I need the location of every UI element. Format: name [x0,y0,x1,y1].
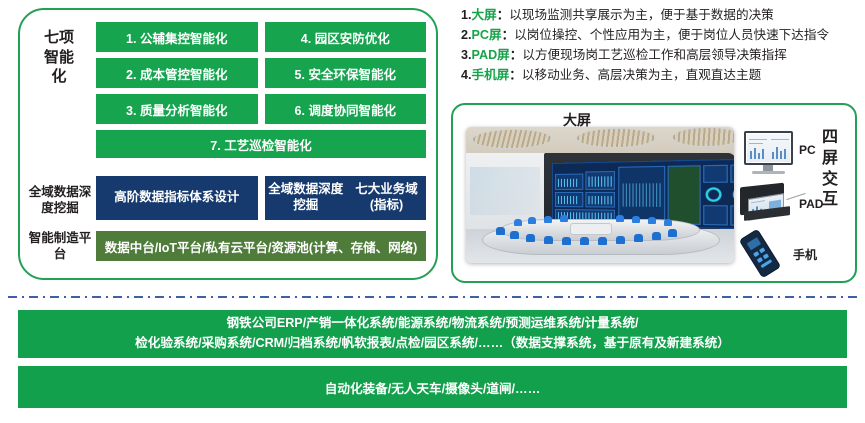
legend-key: 手机屏 [472,68,510,82]
navy-item-line2: 七大业务域(指标) [347,182,426,213]
legend-item-2: 2.PC屏：以岗位操控、个性应用为主，便于岗位人员快速下达指令 [461,26,861,46]
grid-item-6[interactable]: 6. 调度协同智能化 [265,94,427,124]
screen-legend-list: 1.大屏：以现场监测共享展示为主，便于基于数据的决策 2.PC屏：以岗位操控、个… [461,6,861,86]
grid-item-7[interactable]: 7. 工艺巡检智能化 [96,130,426,158]
navy-item-business-domains[interactable]: 全域数据深度挖掘 七大业务域(指标) [265,176,427,220]
legend-text: 以移动业务、高层决策为主，直观直达主题 [522,68,761,82]
phone-label: 手机 [793,246,817,263]
legend-key: 大屏 [472,8,497,22]
grid-row: 2. 成本管控智能化 5. 安全环保智能化 [96,58,426,88]
legend-colon: ： [502,28,515,42]
legend-key: PAD屏 [472,48,510,62]
legend-colon: ： [497,8,510,22]
legend-text: 以岗位操控、个性应用为主，便于岗位人员快速下达指令 [514,28,829,42]
row-label-seven-intelligence: 七项智能化 [42,28,76,87]
legend-number: 1. [461,8,472,22]
legend-colon: ： [509,68,522,82]
pc-label: PC [799,143,816,157]
support-systems-bar[interactable]: 钢铁公司ERP/产销一体化系统/能源系统/物流系统/预测运维系统/计量系统/ 检… [18,310,847,358]
legend-item-1: 1.大屏：以现场监测共享展示为主，便于基于数据的决策 [461,6,861,26]
row-label-data-mining: 全域数据深度挖掘 [26,184,94,216]
section-divider [8,296,857,298]
pc-monitor-base [752,171,785,174]
grid-row: 1. 公辅集控智能化 4. 园区安防优化 [96,22,426,52]
legend-text: 以现场监测共享展示为主，便于基于数据的决策 [509,8,773,22]
legend-colon: ： [510,48,523,62]
legend-number: 4. [461,68,472,82]
grid-item-4[interactable]: 4. 园区安防优化 [265,22,427,52]
support-systems-line2: 检化验系统/采购系统/CRM/归档系统/帆软报表/点检/园区系统/……（数据支撑… [135,334,730,354]
navy-item-indicator-design[interactable]: 高阶数据指标体系设计 [96,176,258,220]
automation-equipment-bar[interactable]: 自动化装备/无人天车/摄像头/道闸/…… [18,366,847,408]
row-label-platform: 智能制造平台 [26,230,94,262]
platform-bar[interactable]: 数据中台/IoT平台/私有云平台/资源池(计算、存储、网络) [96,231,426,261]
support-systems-line1: 钢铁公司ERP/产销一体化系统/能源系统/物流系统/预测运维系统/计量系统/ [226,314,638,334]
grid-item-3[interactable]: 3. 质量分析智能化 [96,94,258,124]
legend-text: 以方便现场岗工艺巡检工作和高层领导决策指挥 [522,48,786,62]
grid-item-5[interactable]: 5. 安全环保智能化 [265,58,427,88]
legend-item-4: 4.手机屏：以移动业务、高层决策为主，直观直达主题 [461,66,861,86]
four-screen-interaction-label: 四屏交互 [819,128,841,211]
legend-number: 3. [461,48,472,62]
grid-item-2[interactable]: 2. 成本管控智能化 [96,58,258,88]
grid-row: 3. 质量分析智能化 6. 调度协同智能化 [96,94,426,124]
slide-root: 七项智能化 全域数据深度挖掘 智能制造平台 1. 公辅集控智能化 4. 园区安防… [0,0,865,423]
legend-number: 2. [461,28,472,42]
pc-monitor-icon [744,131,793,165]
control-room-photo [466,127,734,263]
data-mining-row: 高阶数据指标体系设计 全域数据深度挖掘 七大业务域(指标) [96,176,426,220]
legend-item-3: 3.PAD屏：以方便现场岗工艺巡检工作和高层领导决策指挥 [461,46,861,66]
navy-item-line1: 全域数据深度挖掘 [265,182,347,213]
seven-intelligence-grid: 1. 公辅集控智能化 4. 园区安防优化 2. 成本管控智能化 5. 安全环保智… [96,22,426,158]
legend-key: PC屏 [472,28,502,42]
grid-item-1[interactable]: 1. 公辅集控智能化 [96,22,258,52]
